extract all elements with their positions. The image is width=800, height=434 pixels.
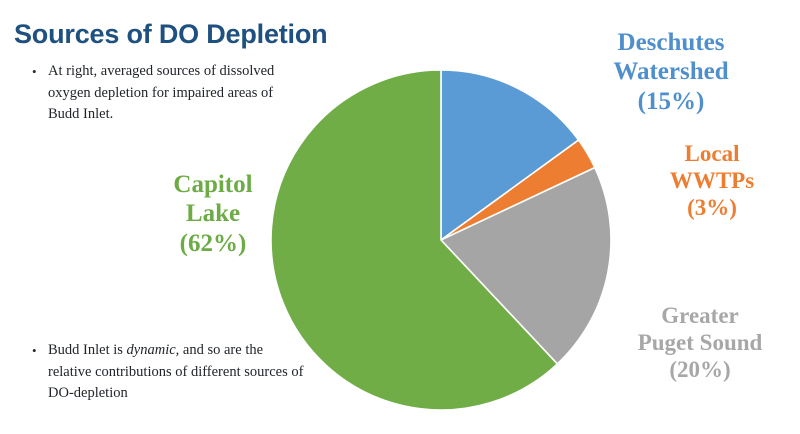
pie-label-deschutes-watershed: Deschutes Watershed (15%) xyxy=(552,28,790,116)
bullet-text-bottom: Budd Inlet is dynamic, and so are the re… xyxy=(48,340,309,405)
pie-slice-group xyxy=(271,70,611,410)
page-title: Sources of DO Depletion xyxy=(14,18,327,50)
bullet-text-top: At right, averaged sources of dissolved … xyxy=(48,61,301,126)
bullet-text-bottom-lead: Budd Inlet is xyxy=(48,342,127,358)
pie-chart-svg xyxy=(271,70,611,410)
pie-chart xyxy=(271,70,611,410)
bullet-marker-icon: • xyxy=(31,61,48,82)
bullet-marker-icon: • xyxy=(31,340,48,361)
bullet-item-bottom: • Budd Inlet is dynamic, and so are the … xyxy=(31,340,309,405)
slide-canvas: Sources of DO Depletion • At right, aver… xyxy=(0,0,800,434)
pie-label-greater-puget-sound: Greater Puget Sound (20%) xyxy=(604,303,796,384)
pie-label-local-wwtps: Local WWTPs (3%) xyxy=(628,141,796,222)
bullet-text-top-segment: At right, averaged sources of dissolved … xyxy=(48,63,274,122)
bullet-item-top: • At right, averaged sources of dissolve… xyxy=(31,61,301,126)
pie-label-capitol-lake: Capitol Lake (62%) xyxy=(118,170,308,258)
bullet-text-bottom-emphasis: dynamic, xyxy=(127,342,180,358)
